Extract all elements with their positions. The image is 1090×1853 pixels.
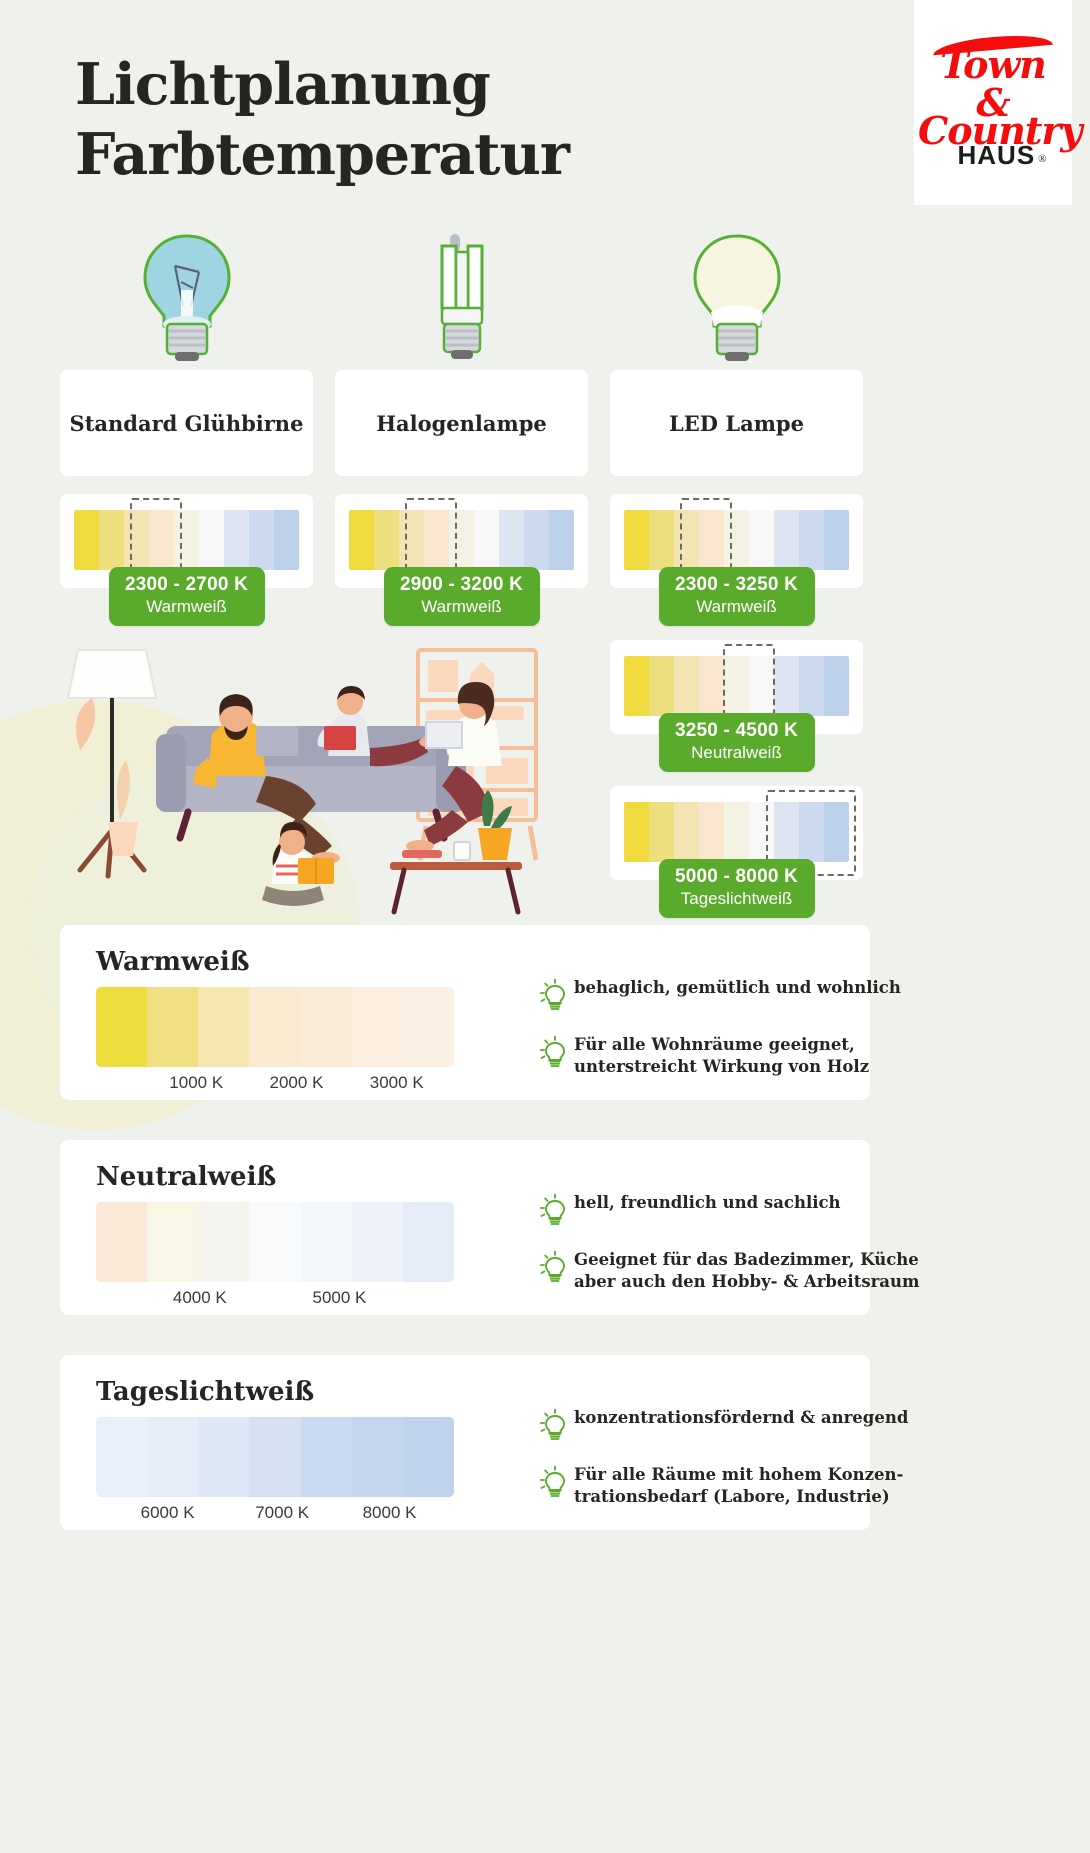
page-title-line-1: Lichtplanung: [75, 51, 490, 118]
gradient-swatch: [403, 1417, 454, 1497]
lamp-name-card: Standard Glühbirne: [60, 370, 313, 476]
lightbulb-icon: [540, 1193, 574, 1232]
kelvin-label: Warmweiß: [398, 597, 526, 617]
kelvin-badge: 5000 - 8000 K Tageslichtweiß: [659, 859, 815, 918]
panel-bullets: hell, freundlich und sachlichGeeignet fü…: [540, 1192, 930, 1310]
scale-tick-label: 1000 K: [169, 1073, 223, 1093]
gradient-swatch: [624, 656, 649, 716]
kelvin-label: Tageslichtweiß: [673, 889, 801, 909]
panel-scale-ticks: 1000 K2000 K3000 K: [96, 1073, 454, 1095]
gradient-swatch: [249, 1417, 300, 1497]
kelvin-badge: 2300 - 3250 K Warmweiß: [659, 567, 815, 626]
kelvin-label: Warmweiß: [123, 597, 251, 617]
gradient-swatch: [274, 510, 299, 570]
gradient-swatch: [774, 510, 799, 570]
gradient-swatch: [699, 656, 724, 716]
lightbulb-icon: [540, 978, 574, 1017]
kelvin-value: 2300 - 3250 K: [673, 574, 801, 596]
bullet-text: hell, freundlich und sachlich: [574, 1192, 841, 1214]
scale-tick-label: 5000 K: [312, 1288, 366, 1308]
gradient-swatch: [349, 510, 374, 570]
gradient-swatch: [249, 987, 300, 1067]
scale-tick-label: 3000 K: [370, 1073, 424, 1093]
gradient-swatch: [224, 510, 249, 570]
scale-tick-label: 2000 K: [270, 1073, 324, 1093]
gradient-swatch: [624, 802, 649, 862]
lamp-column-led: LED Lampe 2300 - 3250 K Warmweiß 3250 - …: [610, 230, 863, 880]
scale-tick-label: 6000 K: [141, 1503, 195, 1523]
temperature-gradient-strip: [624, 510, 849, 570]
halogen-cfl-bulb-icon: [335, 230, 588, 370]
gradient-swatch: [147, 987, 198, 1067]
gradient-swatch: [774, 656, 799, 716]
gradient-swatch: [674, 656, 699, 716]
bullet-text: Für alle Räume mit hohem Konzen-trations…: [574, 1464, 903, 1508]
lamp-name-card: LED Lampe: [610, 370, 863, 476]
panel-scale-ticks: 6000 K7000 K8000 K: [96, 1503, 454, 1525]
gradient-swatch: [374, 510, 399, 570]
lamp-name-card: Halogenlampe: [335, 370, 588, 476]
kelvin-value: 2300 - 2700 K: [123, 574, 251, 596]
bullet-item: Geeignet für das Badezimmer, Kücheaber a…: [540, 1249, 930, 1293]
bullet-item: hell, freundlich und sachlich: [540, 1192, 930, 1232]
panel-gradient: [96, 1202, 454, 1282]
logo-word-haus: HAUS: [957, 142, 1035, 168]
kelvin-badge: 2900 - 3200 K Warmweiß: [384, 567, 540, 626]
temperature-gradient-strip: [349, 510, 574, 570]
panel-heading: Warmweiß: [96, 947, 250, 977]
panel-gradient: [96, 1417, 454, 1497]
bullet-item: konzentrationsfördernd & anregend: [540, 1407, 930, 1447]
lightbulb-icon: [540, 1250, 574, 1289]
lightbulb-icon: [540, 1408, 574, 1447]
gradient-swatch: [147, 1417, 198, 1497]
bullet-item: behaglich, gemütlich und wohnlich: [540, 977, 930, 1017]
gradient-swatch: [524, 510, 549, 570]
gradient-swatch: [198, 1417, 249, 1497]
gradient-swatch: [198, 987, 249, 1067]
gradient-swatch: [699, 802, 724, 862]
gradient-swatch: [99, 510, 124, 570]
gradient-swatch: [249, 1202, 300, 1282]
lamp-column-halogen: Halogenlampe 2900 - 3200 K Warmweiß: [335, 230, 588, 588]
brand-logo: Town & Country HAUS ®: [914, 0, 1072, 205]
lightbulb-icon: [540, 1465, 574, 1504]
gradient-swatch: [403, 1202, 454, 1282]
lamp-column-standard: Standard Glühbirne 2300 - 2700 K Warmwei…: [60, 230, 313, 588]
gradient-swatch: [799, 656, 824, 716]
panel-tageslichtweiss: Tageslichtweiß 6000 K7000 K8000 K konzen…: [60, 1355, 870, 1530]
panel-gradient: [96, 987, 454, 1067]
kelvin-label: Neutralweiß: [673, 743, 801, 763]
gradient-swatch: [674, 802, 699, 862]
lamp-name: Standard Glühbirne: [70, 411, 304, 436]
kelvin-value: 3250 - 4500 K: [673, 720, 801, 742]
gradient-swatch: [499, 510, 524, 570]
gradient-swatch: [249, 510, 274, 570]
gradient-swatch: [724, 802, 749, 862]
gradient-swatch: [649, 510, 674, 570]
gradient-swatch: [96, 1417, 147, 1497]
led-bulb-icon: [610, 230, 863, 370]
gradient-swatch: [824, 656, 849, 716]
gradient-swatch: [824, 510, 849, 570]
kelvin-value: 5000 - 8000 K: [673, 866, 801, 888]
page-title-line-2: Farbtemperatur: [75, 121, 569, 188]
gradient-swatch: [199, 510, 224, 570]
bullet-text: konzentrationsfördernd & anregend: [574, 1407, 908, 1429]
bullet-item: Für alle Räume mit hohem Konzen-trations…: [540, 1464, 930, 1508]
scale-tick-label: 7000 K: [255, 1503, 309, 1523]
bullet-text: Für alle Wohnräume geeignet,unterstreich…: [574, 1034, 869, 1078]
scale-tick-label: 4000 K: [173, 1288, 227, 1308]
gradient-swatch: [74, 510, 99, 570]
page-title: LichtplanungFarbtemperatur: [75, 50, 569, 189]
temperature-bar-card: 3250 - 4500 K Neutralweiß: [610, 640, 863, 734]
gradient-swatch: [96, 1202, 147, 1282]
bullet-text: Geeignet für das Badezimmer, Kücheaber a…: [574, 1249, 919, 1293]
gradient-swatch: [96, 987, 147, 1067]
gradient-swatch: [624, 510, 649, 570]
panel-warmweiss: Warmweiß 1000 K2000 K3000 K behaglich, g…: [60, 925, 870, 1100]
gradient-swatch: [649, 656, 674, 716]
temperature-bar-card: 5000 - 8000 K Tageslichtweiß: [610, 786, 863, 880]
panel-heading: Tageslichtweiß: [96, 1377, 314, 1407]
incandescent-bulb-icon: [60, 230, 313, 370]
bullet-item: Für alle Wohnräume geeignet,unterstreich…: [540, 1034, 930, 1078]
panel-heading: Neutralweiß: [96, 1162, 276, 1192]
gradient-swatch: [352, 1202, 403, 1282]
temperature-bar-card: 2900 - 3200 K Warmweiß: [335, 494, 588, 588]
panel-bullets: konzentrationsfördernd & anregendFür all…: [540, 1407, 930, 1525]
kelvin-value: 2900 - 3200 K: [398, 574, 526, 596]
gradient-swatch: [352, 987, 403, 1067]
logo-registered-mark: ®: [1038, 154, 1046, 165]
gradient-swatch: [799, 510, 824, 570]
gradient-swatch: [352, 1417, 403, 1497]
temperature-bar-card: 2300 - 3250 K Warmweiß: [610, 494, 863, 588]
gradient-swatch: [301, 1202, 352, 1282]
gradient-swatch: [549, 510, 574, 570]
panel-scale-ticks: 4000 K5000 K: [96, 1288, 454, 1310]
gradient-swatch: [198, 1202, 249, 1282]
gradient-swatch: [649, 802, 674, 862]
gradient-swatch: [403, 987, 454, 1067]
kelvin-badge: 3250 - 4500 K Neutralweiß: [659, 713, 815, 772]
gradient-swatch: [301, 1417, 352, 1497]
panel-bullets: behaglich, gemütlich und wohnlichFür all…: [540, 977, 930, 1095]
lamp-name: Halogenlampe: [376, 411, 547, 436]
temperature-gradient-strip: [74, 510, 299, 570]
kelvin-label: Warmweiß: [673, 597, 801, 617]
gradient-swatch: [147, 1202, 198, 1282]
bullet-text: behaglich, gemütlich und wohnlich: [574, 977, 901, 999]
kelvin-badge: 2300 - 2700 K Warmweiß: [109, 567, 265, 626]
family-reading-illustration: [60, 630, 620, 920]
gradient-swatch: [474, 510, 499, 570]
gradient-swatch: [749, 510, 774, 570]
gradient-swatch: [301, 987, 352, 1067]
panel-neutralweiss: Neutralweiß 4000 K5000 K hell, freundlic…: [60, 1140, 870, 1315]
lightbulb-icon: [540, 1035, 574, 1074]
lamp-name: LED Lampe: [669, 411, 804, 436]
temperature-bar-card: 2300 - 2700 K Warmweiß: [60, 494, 313, 588]
scale-tick-label: 8000 K: [363, 1503, 417, 1523]
